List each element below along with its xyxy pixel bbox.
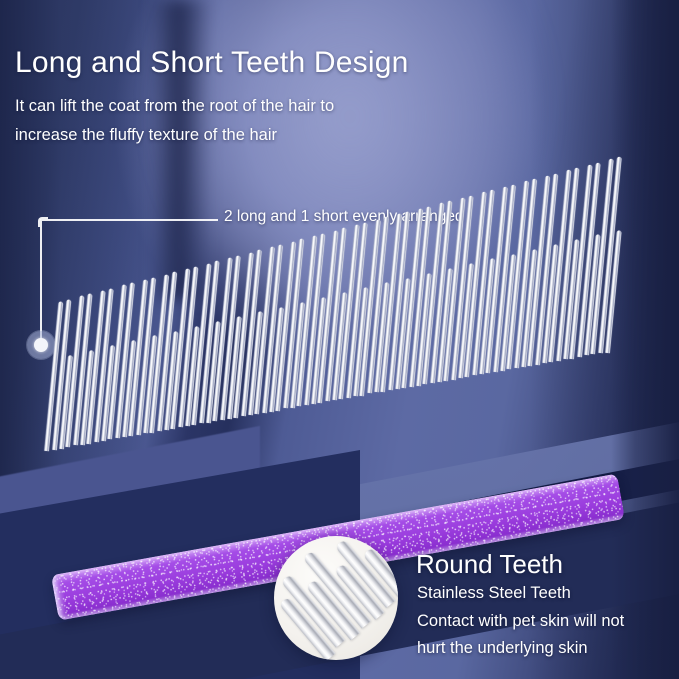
magnifier-circle: [274, 536, 398, 660]
headline-body-line-1: It can lift the coat from the root of th…: [15, 97, 334, 116]
feature-text-line-1: Stainless Steel Teeth: [417, 584, 571, 603]
callout-leader-vertical: [40, 221, 42, 341]
feature-title: Round Teeth: [416, 549, 563, 580]
magnified-tooth-tips: [274, 536, 398, 660]
feature-text-line-3: hurt the underlying skin: [417, 639, 588, 658]
feature-text-line-2: Contact with pet skin will not: [417, 612, 624, 631]
callout-leader-horizontal: [40, 219, 218, 221]
callout-leader-corner: [38, 217, 48, 227]
page-title: Long and Short Teeth Design: [15, 46, 408, 80]
product-feature-image: Long and Short Teeth Design It can lift …: [0, 0, 679, 679]
headline-body-line-2: increase the fluffy texture of the hair: [15, 126, 277, 145]
callout-marker-dot: [34, 338, 48, 352]
